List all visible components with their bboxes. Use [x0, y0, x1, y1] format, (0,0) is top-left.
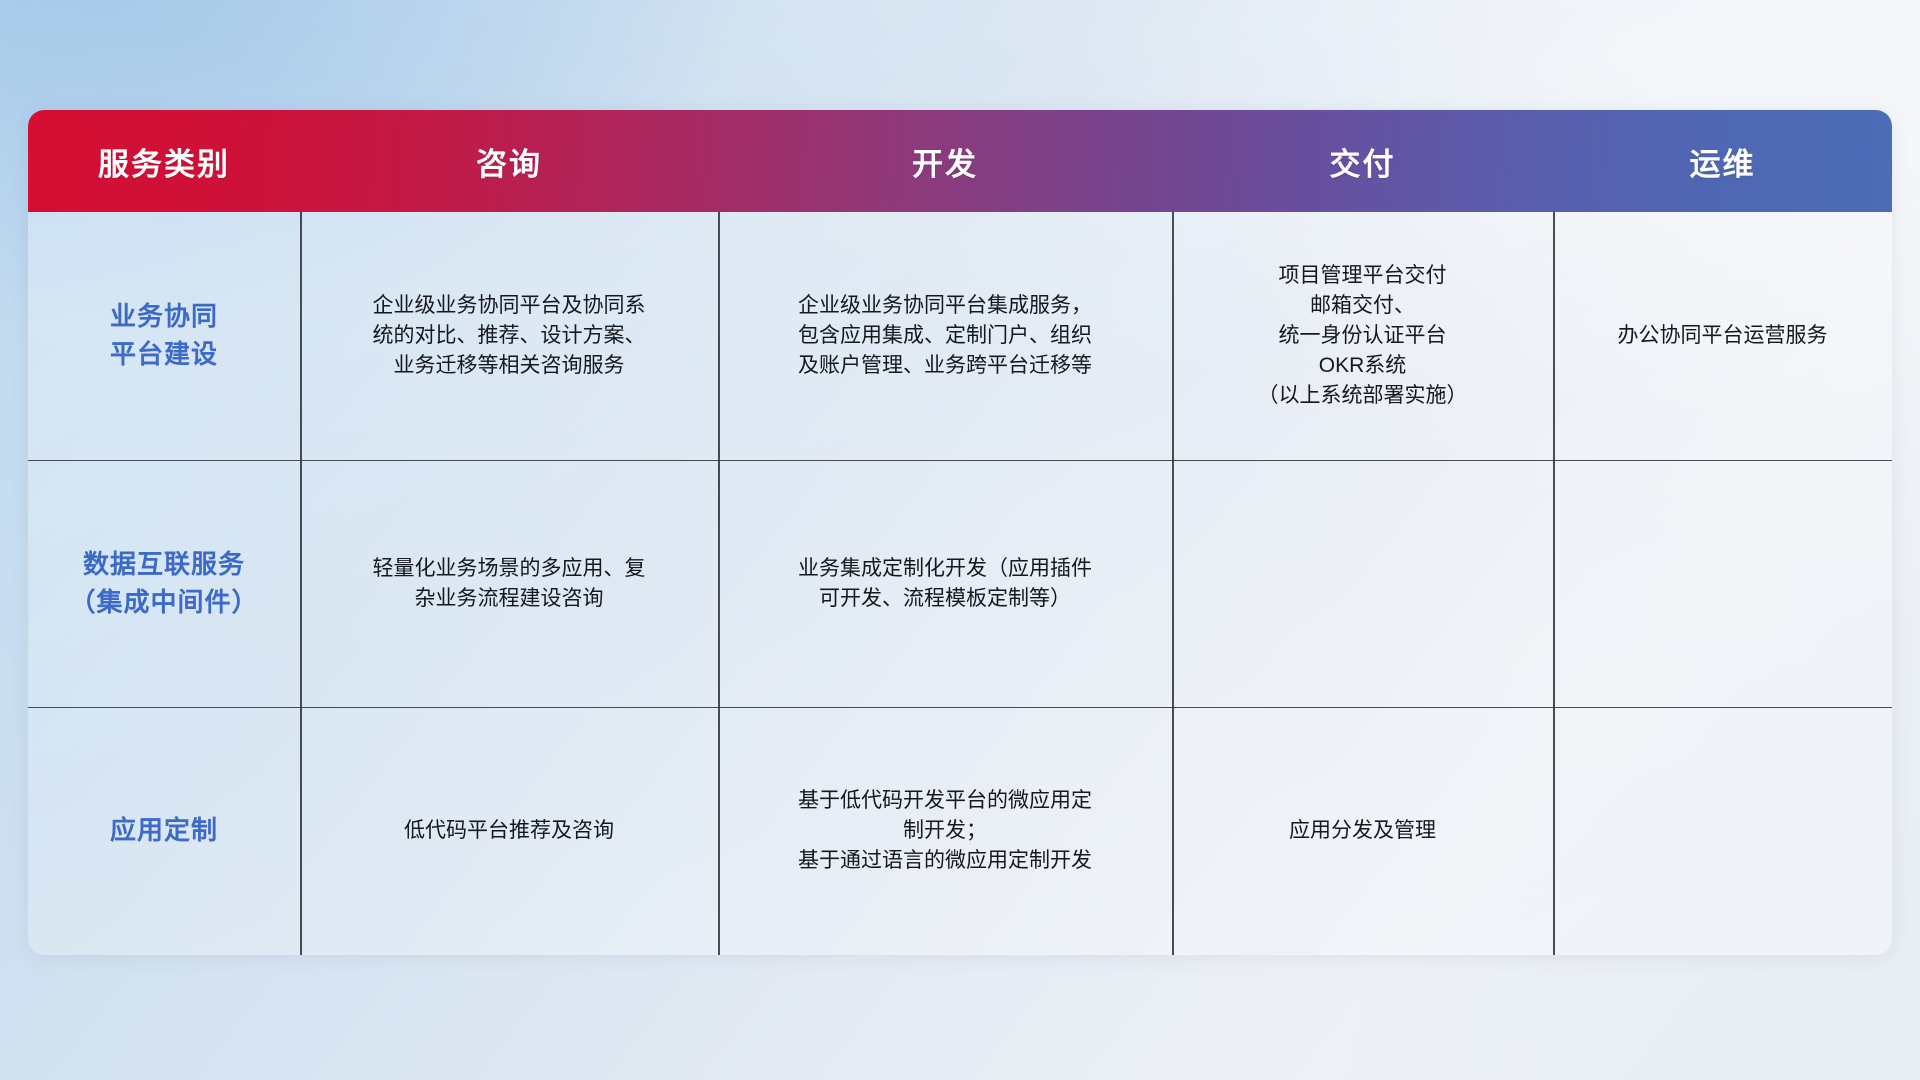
row-category-label: 应用定制 [28, 707, 300, 955]
service-matrix-table: 服务类别 咨询 开发 交付 运维 业务协同 平台建设 企业级业务协同平台及协同系… [28, 110, 1892, 955]
column-header-category: 服务类别 [28, 110, 300, 212]
cell-development: 企业级业务协同平台集成服务， 包含应用集成、定制门户、组织 及账户管理、业务跨平… [718, 212, 1172, 460]
column-header-development: 开发 [718, 110, 1172, 212]
cell-operations [1553, 707, 1892, 955]
table-body: 业务协同 平台建设 企业级业务协同平台及协同系 统的对比、推荐、设计方案、 业务… [28, 212, 1892, 955]
cell-operations: 办公协同平台运营服务 [1553, 212, 1892, 460]
cell-delivery: 应用分发及管理 [1172, 707, 1553, 955]
cell-delivery: 项目管理平台交付 邮箱交付、 统一身份认证平台 OKR系统 （以上系统部署实施） [1172, 212, 1553, 460]
column-header-delivery: 交付 [1172, 110, 1553, 212]
cell-consulting: 低代码平台推荐及咨询 [300, 707, 718, 955]
row-category-label: 数据互联服务 （集成中间件） [28, 460, 300, 708]
table-header-row: 服务类别 咨询 开发 交付 运维 [28, 110, 1892, 212]
cell-operations [1553, 460, 1892, 708]
table-row: 应用定制 低代码平台推荐及咨询 基于低代码开发平台的微应用定 制开发； 基于通过… [28, 707, 1892, 955]
cell-consulting: 轻量化业务场景的多应用、复 杂业务流程建设咨询 [300, 460, 718, 708]
cell-development: 基于低代码开发平台的微应用定 制开发； 基于通过语言的微应用定制开发 [718, 707, 1172, 955]
table-row: 业务协同 平台建设 企业级业务协同平台及协同系 统的对比、推荐、设计方案、 业务… [28, 212, 1892, 460]
cell-development: 业务集成定制化开发（应用插件 可开发、流程模板定制等） [718, 460, 1172, 708]
cell-consulting: 企业级业务协同平台及协同系 统的对比、推荐、设计方案、 业务迁移等相关咨询服务 [300, 212, 718, 460]
cell-delivery [1172, 460, 1553, 708]
row-category-label: 业务协同 平台建设 [28, 212, 300, 460]
table-row: 数据互联服务 （集成中间件） 轻量化业务场景的多应用、复 杂业务流程建设咨询 业… [28, 460, 1892, 708]
column-header-operations: 运维 [1553, 110, 1892, 212]
column-header-consulting: 咨询 [300, 110, 718, 212]
